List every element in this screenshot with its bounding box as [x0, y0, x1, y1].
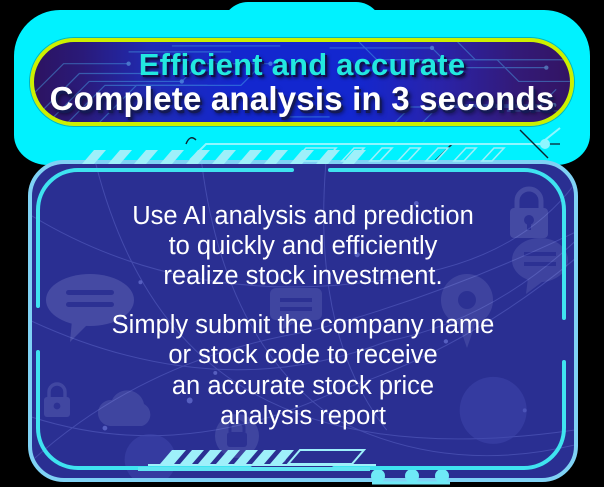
poster-canvas: Efficient and accurate Complete analysis…	[0, 0, 604, 487]
inner-frame-arcs	[24, 156, 582, 487]
bottom-progress-bar	[148, 448, 398, 468]
banner-text-block: Efficient and accurate Complete analysis…	[34, 42, 570, 122]
top-hatch-right	[290, 146, 520, 162]
banner-subheadline: Complete analysis in 3 seconds	[50, 82, 555, 115]
title-banner: Efficient and accurate Complete analysis…	[30, 38, 574, 126]
banner-headline: Efficient and accurate	[139, 49, 466, 80]
bottom-dots	[0, 470, 604, 487]
